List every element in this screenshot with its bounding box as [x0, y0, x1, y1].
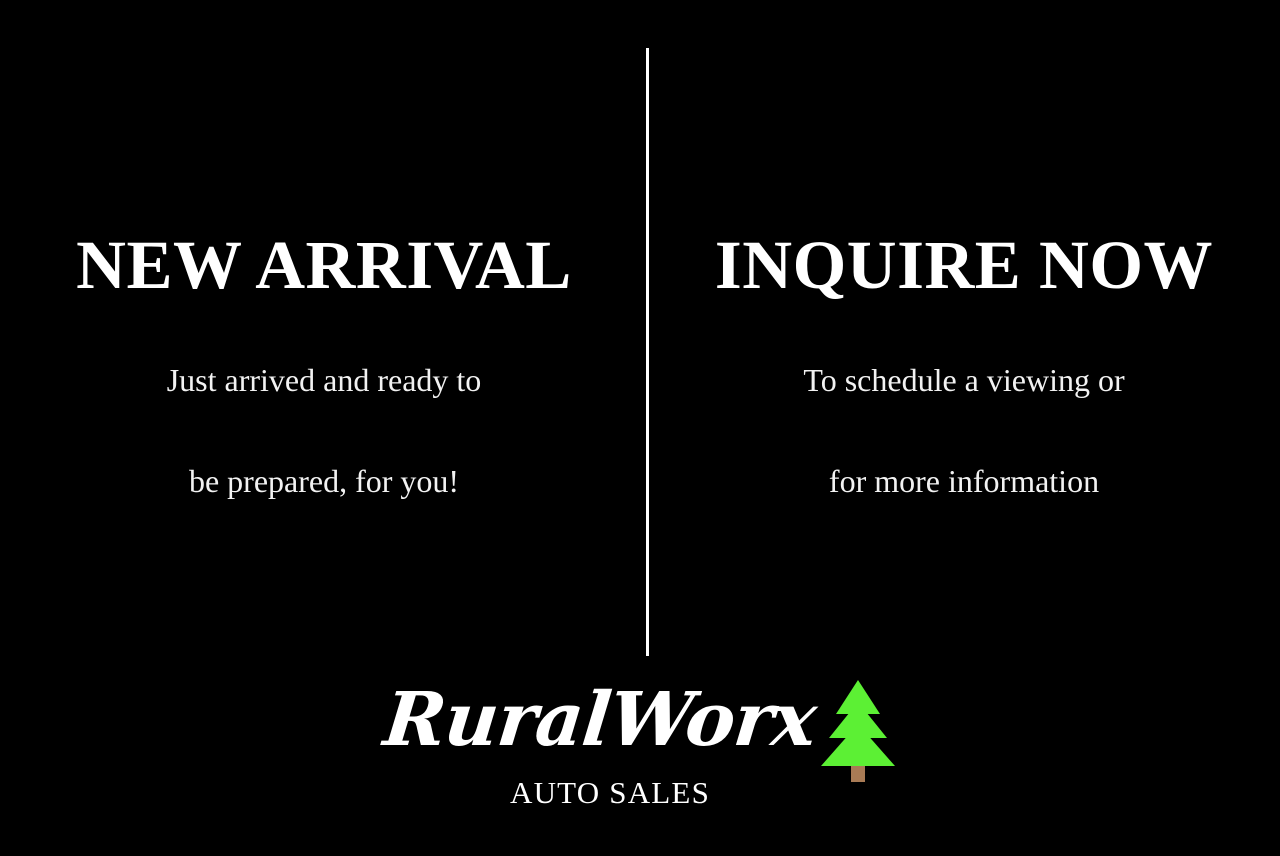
new-arrival-subtext-line-1: Just arrived and ready to — [167, 359, 482, 401]
inquire-now-subtext-line-2: for more information — [829, 460, 1099, 502]
new-arrival-subtext-line-2: be prepared, for you! — [189, 460, 459, 502]
brand-wordmark: RuralWorx — [375, 668, 826, 772]
panel-inquire-now: INQUIRE NOW To schedule a viewing or for… — [648, 0, 1280, 660]
new-arrival-headline: NEW ARRIVAL — [76, 231, 572, 300]
brand-logo: RuralWorx AUTO SALES — [0, 668, 1280, 828]
pine-tree-icon — [816, 676, 900, 784]
panel-new-arrival: NEW ARRIVAL Just arrived and ready to be… — [0, 0, 648, 660]
inquire-now-subtext-line-1: To schedule a viewing or — [803, 359, 1124, 401]
brand-logo-lockup: RuralWorx AUTO SALES — [380, 668, 900, 828]
brand-tagline: AUTO SALES — [400, 776, 820, 810]
inquire-now-headline: INQUIRE NOW — [715, 231, 1213, 300]
promo-graphic: NEW ARRIVAL Just arrived and ready to be… — [0, 0, 1280, 856]
two-column-promo: NEW ARRIVAL Just arrived and ready to be… — [0, 0, 1280, 660]
vertical-divider — [646, 48, 649, 656]
